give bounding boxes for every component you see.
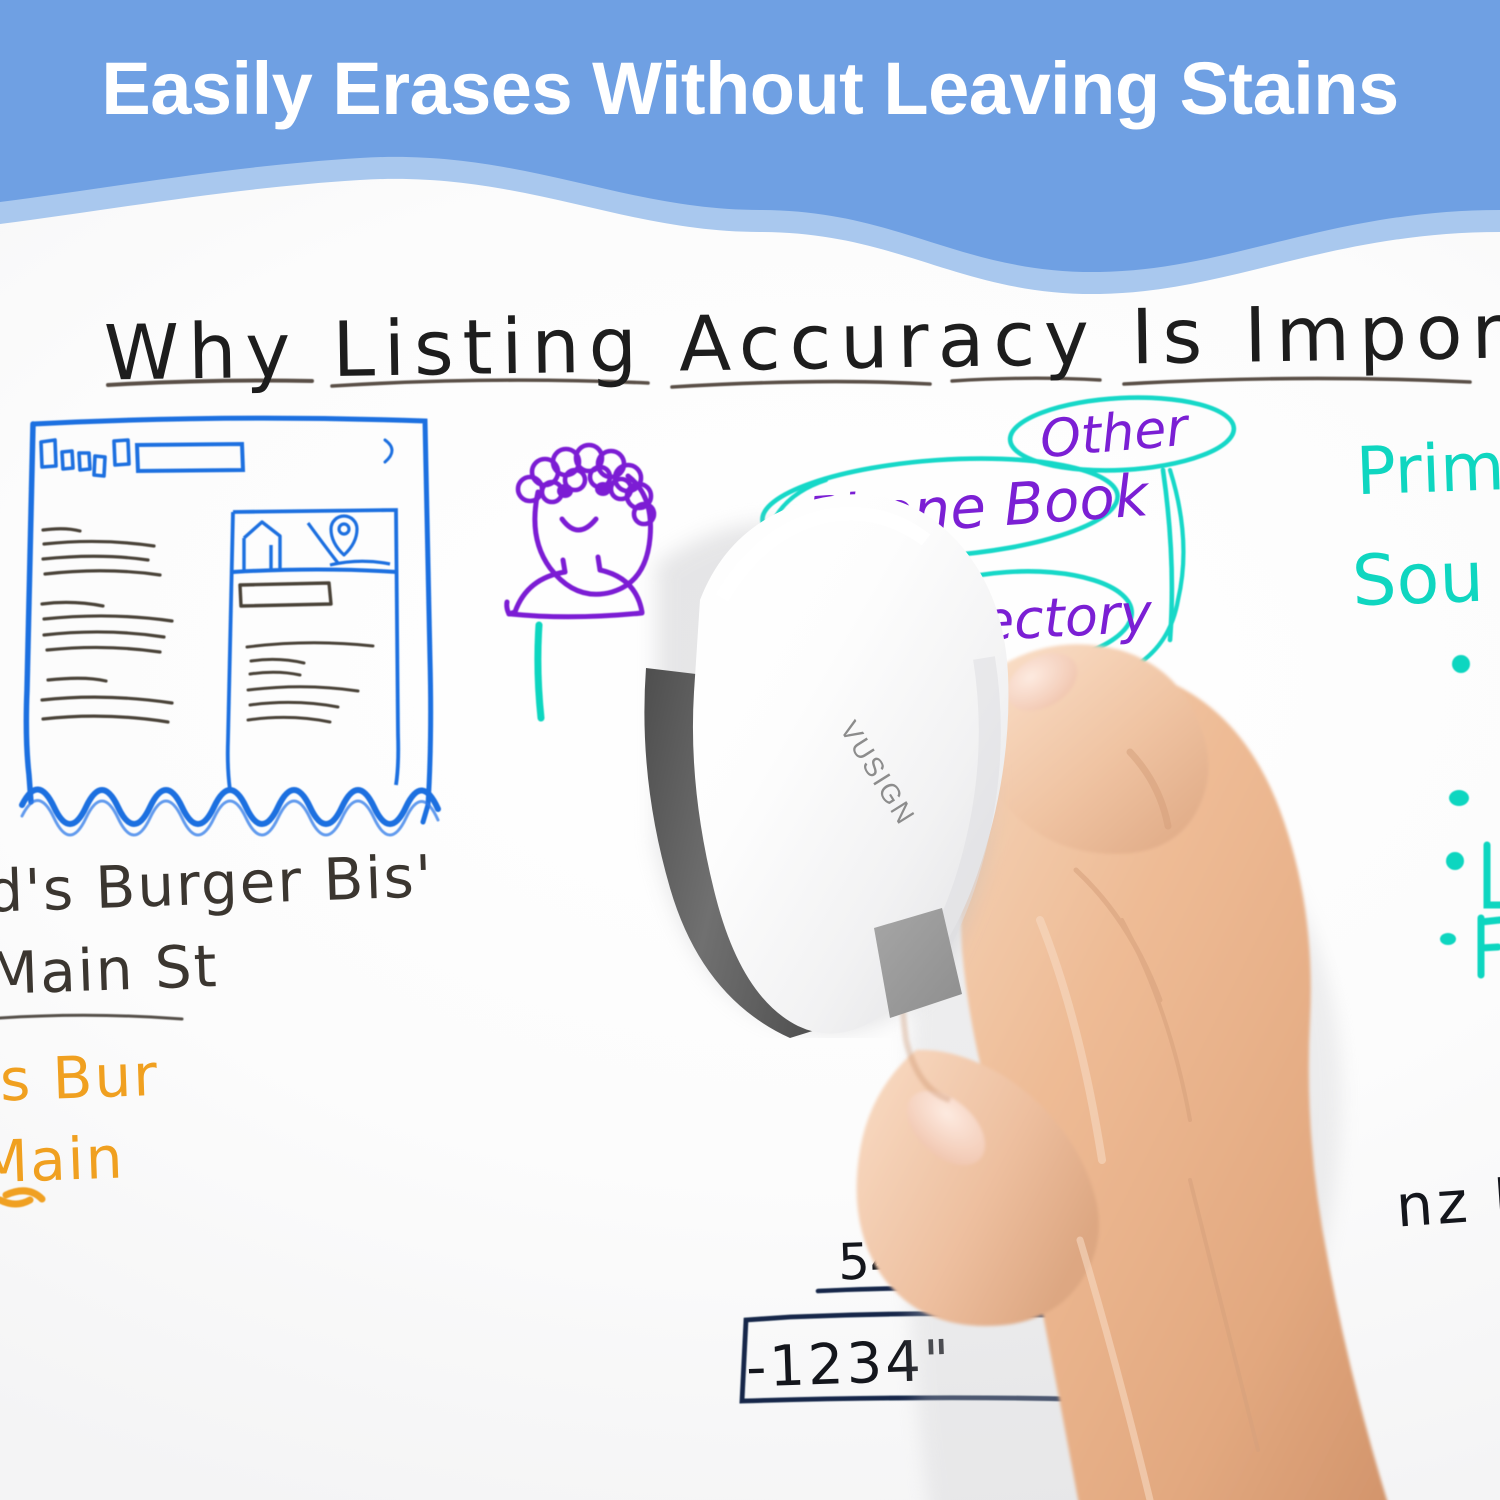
teal-stroke [538, 625, 541, 718]
listing-divider [0, 1015, 182, 1019]
primary-source-line-2: Sou [1351, 536, 1485, 623]
bubble-label-other: Other [1038, 398, 1190, 471]
whiteboard-eraser: VUSIGN [612, 478, 1082, 1038]
primary-source-line-1: Prima [1355, 427, 1500, 511]
listing-orange-line-2: Main [0, 1123, 126, 1196]
product-marketing-image: Why Listing Accuracy Is Important Other … [0, 0, 1500, 1500]
header-banner: Easily Erases Without Leaving Stains [0, 0, 1500, 300]
listing-black-line-2: Main St [0, 932, 220, 1008]
listing-orange-line-1: 's Bur [0, 1041, 160, 1115]
headline-text: Easily Erases Without Leaving Stains [0, 52, 1500, 126]
sketch-listing-page [22, 418, 438, 835]
orange-partial-stroke-2 [0, 1200, 30, 1204]
